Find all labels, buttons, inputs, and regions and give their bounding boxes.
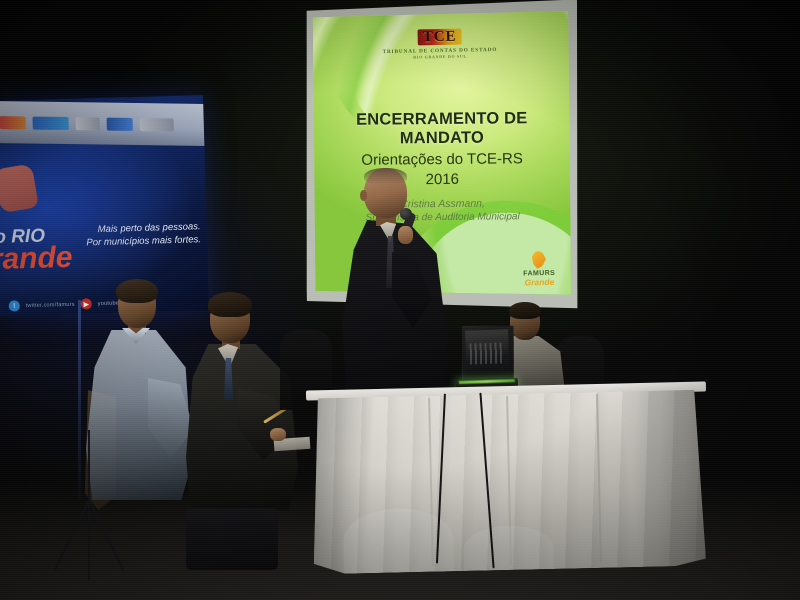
equipment-case <box>186 508 278 570</box>
banner-tagline: Mais perto das pessoas. Por municípios m… <box>69 221 202 250</box>
speaker-with-microphone <box>336 168 454 406</box>
twitter-icon: t <box>9 300 20 311</box>
white-draped-table <box>306 381 710 578</box>
famurs-wordmark: FAMURS <box>523 269 555 277</box>
seated-man-light-shirt <box>86 282 192 500</box>
suit-jacket <box>338 220 450 406</box>
sponsor-logo-4 <box>107 117 133 130</box>
sponsor-logo-3 <box>76 117 100 130</box>
ear <box>360 190 367 201</box>
photo-scene: TCE TRIBUNAL DE CONTAS DO ESTADO RIO GRA… <box>0 0 800 600</box>
banner-stand-pole <box>78 300 81 500</box>
twitter-handle: twitter.com/famurs <box>26 301 75 308</box>
sponsor-logo-strip <box>0 101 209 146</box>
famurs-logo-slide: FAMURS Grande <box>523 250 556 286</box>
tce-mark: TCE <box>418 29 462 46</box>
laptop-base-glow <box>459 379 515 384</box>
open-laptop <box>454 324 518 390</box>
slide-subheading: Orientações do TCE-RS <box>313 150 571 169</box>
laptop-screen <box>465 329 510 376</box>
hair <box>208 292 252 317</box>
rio-grande-do-sul-shape-icon <box>532 251 546 269</box>
sponsor-logo-1 <box>0 116 26 129</box>
cloth-fold <box>596 394 602 563</box>
hand <box>398 226 413 244</box>
table-cloth-skirt <box>310 390 706 575</box>
laptop-lid <box>460 324 516 384</box>
famurs-accent-word: Grande <box>523 277 555 286</box>
tce-logo: TCE TRIBUNAL DE CONTAS DO ESTADO RIO GRA… <box>311 26 570 62</box>
hair <box>116 279 158 303</box>
hairline <box>364 168 407 185</box>
laptop-screen-content <box>470 342 505 364</box>
cloth-drape <box>463 525 554 571</box>
hair <box>509 302 541 319</box>
slide-heading: ENCERRAMENTO DE MANDATO <box>313 109 571 149</box>
sponsor-logo-5 <box>140 118 174 131</box>
sponsor-logo-2 <box>32 116 68 129</box>
microphone-head-icon <box>400 208 412 220</box>
hand <box>270 428 286 441</box>
